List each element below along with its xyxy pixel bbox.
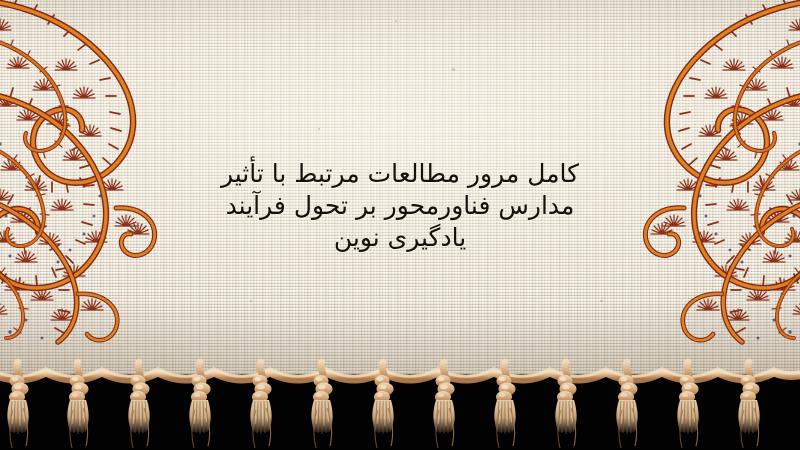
black-backdrop bbox=[0, 374, 800, 450]
title-line-3: یادگیری نوین bbox=[0, 222, 800, 254]
fabric-fleck bbox=[318, 128, 320, 130]
fabric-fleck bbox=[452, 68, 455, 71]
fabric-fleck bbox=[395, 20, 397, 22]
title-line-1: کامل مرور مطالعات مرتبط با تأثیر bbox=[0, 158, 800, 190]
title-slide: کامل مرور مطالعات مرتبط با تأثیر مدارس ف… bbox=[0, 0, 800, 450]
title-line-2: مدارس فناورمحور بر تحول فرآیند bbox=[0, 190, 800, 222]
linen-cloth-panel: کامل مرور مطالعات مرتبط با تأثیر مدارس ف… bbox=[0, 0, 800, 378]
slide-title: کامل مرور مطالعات مرتبط با تأثیر مدارس ف… bbox=[0, 158, 800, 254]
